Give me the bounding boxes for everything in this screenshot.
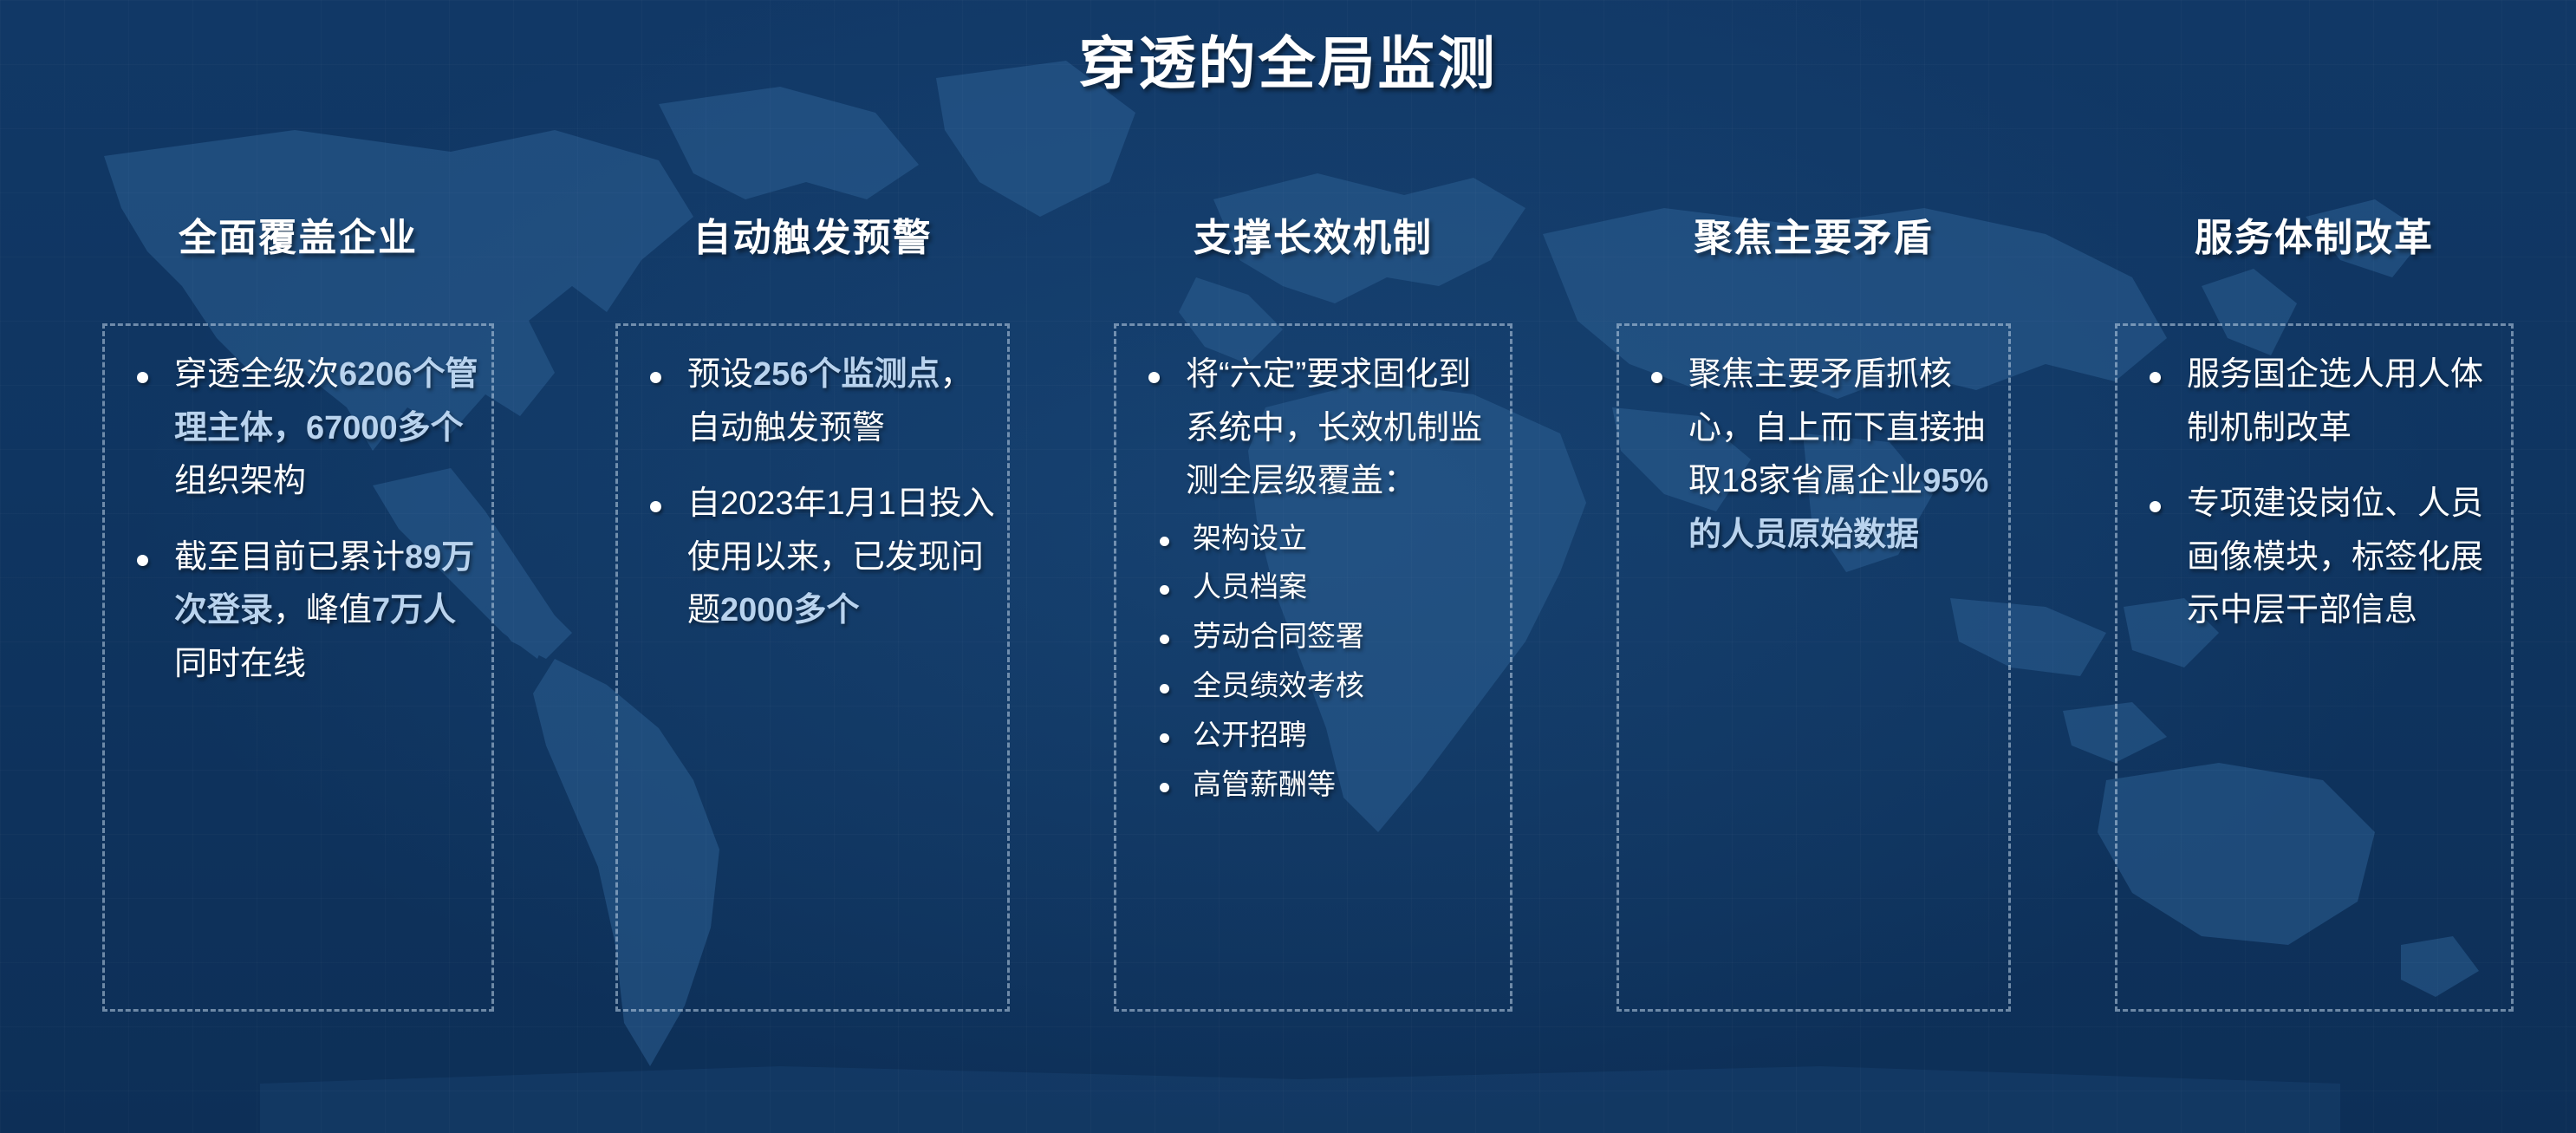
body-text: 组织架构: [174, 463, 306, 499]
bullet-item: 穿透全级次6206个管理主体，67000多个组织架构: [114, 348, 485, 509]
column-box-long-term-mechanism: 将“六定”要求固化到系统中，长效机制监测全层级覆盖：架构设立人员档案劳动合同签署…: [1114, 323, 1512, 1012]
bullet-item: 专项建设岗位、人员画像模块，标签化展示中层干部信息: [2126, 478, 2504, 638]
column-box-auto-alert: 预设256个监测点，自动触发预警自2023年1月1日投入使用以来，已发现问题20…: [615, 323, 1010, 1012]
sub-bullet-item: 全员绩效考核: [1125, 665, 1503, 707]
sub-bullet-item: 高管薪酬等: [1125, 764, 1503, 806]
bullet-item: 聚焦主要矛盾抓核心，自上而下直接抽取18家省属企业95%的人员原始数据: [1628, 348, 2001, 562]
columns-container: 全面覆盖企业穿透全级次6206个管理主体，67000多个组织架构截至目前已累计8…: [0, 0, 2576, 1133]
bullet-list-main-contradiction: 聚焦主要矛盾抓核心，自上而下直接抽取18家省属企业95%的人员原始数据: [1619, 326, 2008, 593]
sub-bullet-item: 公开招聘: [1125, 714, 1503, 757]
column-auto-alert: 自动触发预警预设256个监测点，自动触发预警自2023年1月1日投入使用以来，已…: [615, 0, 1010, 1133]
body-text: 预设: [687, 356, 753, 393]
body-text: ，峰值: [273, 592, 372, 628]
highlight-text: 2000多个: [720, 592, 860, 628]
column-full-coverage: 全面覆盖企业穿透全级次6206个管理主体，67000多个组织架构截至目前已累计8…: [102, 0, 494, 1133]
bullet-list-full-coverage: 穿透全级次6206个管理主体，67000多个组织架构截至目前已累计89万次登录，…: [105, 326, 491, 722]
body-text: 将“六定”要求固化到系统中，长效机制监测全层级覆盖：: [1186, 356, 1482, 499]
slide-canvas: 穿透的全局监测 全面覆盖企业穿透全级次6206个管理主体，67000多个组织架构…: [0, 0, 2576, 1133]
column-header-auto-alert: 自动触发预警: [615, 206, 1010, 262]
body-text: 穿透全级次: [174, 356, 339, 393]
body-text: 专项建设岗位、人员画像模块，标签化展示中层干部信息: [2187, 485, 2483, 628]
bullet-item: 预设256个监测点，自动触发预警: [627, 348, 1000, 455]
column-header-main-contradiction: 聚焦主要矛盾: [1617, 206, 2011, 262]
column-long-term-mechanism: 支撑长效机制将“六定”要求固化到系统中，长效机制监测全层级覆盖：架构设立人员档案…: [1114, 0, 1512, 1133]
bullet-item: 将“六定”要求固化到系统中，长效机制监测全层级覆盖：: [1125, 348, 1503, 509]
sub-bullet-item: 人员档案: [1125, 566, 1503, 609]
column-header-full-coverage: 全面覆盖企业: [102, 206, 494, 262]
bullet-list-long-term-mechanism: 将“六定”要求固化到系统中，长效机制监测全层级覆盖：架构设立人员档案劳动合同签署…: [1116, 326, 1510, 822]
column-header-long-term-mechanism: 支撑长效机制: [1114, 206, 1512, 262]
bullet-item: 自2023年1月1日投入使用以来，已发现问题2000多个: [627, 478, 1000, 638]
body-text: 服务国企选人用人体制机制改革: [2187, 356, 2483, 446]
column-system-reform: 服务体制改革服务国企选人用人体制机制改革专项建设岗位、人员画像模块，标签化展示中…: [2115, 0, 2514, 1133]
column-box-main-contradiction: 聚焦主要矛盾抓核心，自上而下直接抽取18家省属企业95%的人员原始数据: [1617, 323, 2011, 1012]
sub-bullet-item: 劳动合同签署: [1125, 615, 1503, 658]
sub-bullet-item: 架构设立: [1125, 518, 1503, 560]
bullet-item: 截至目前已累计89万次登录，峰值7万人同时在线: [114, 531, 485, 692]
column-header-system-reform: 服务体制改革: [2115, 206, 2514, 262]
bullet-item: 服务国企选人用人体制机制改革: [2126, 348, 2504, 455]
body-text: 同时在线: [174, 646, 306, 682]
column-main-contradiction: 聚焦主要矛盾聚焦主要矛盾抓核心，自上而下直接抽取18家省属企业95%的人员原始数…: [1617, 0, 2011, 1133]
body-text: 截至目前已累计: [174, 539, 405, 576]
highlight-text: 7万人: [372, 592, 456, 628]
highlight-text: 256个监测点: [753, 356, 940, 393]
column-box-full-coverage: 穿透全级次6206个管理主体，67000多个组织架构截至目前已累计89万次登录，…: [102, 323, 494, 1012]
column-box-system-reform: 服务国企选人用人体制机制改革专项建设岗位、人员画像模块，标签化展示中层干部信息: [2115, 323, 2514, 1012]
bullet-list-system-reform: 服务国企选人用人体制机制改革专项建设岗位、人员画像模块，标签化展示中层干部信息: [2117, 326, 2511, 669]
bullet-list-auto-alert: 预设256个监测点，自动触发预警自2023年1月1日投入使用以来，已发现问题20…: [618, 326, 1007, 669]
